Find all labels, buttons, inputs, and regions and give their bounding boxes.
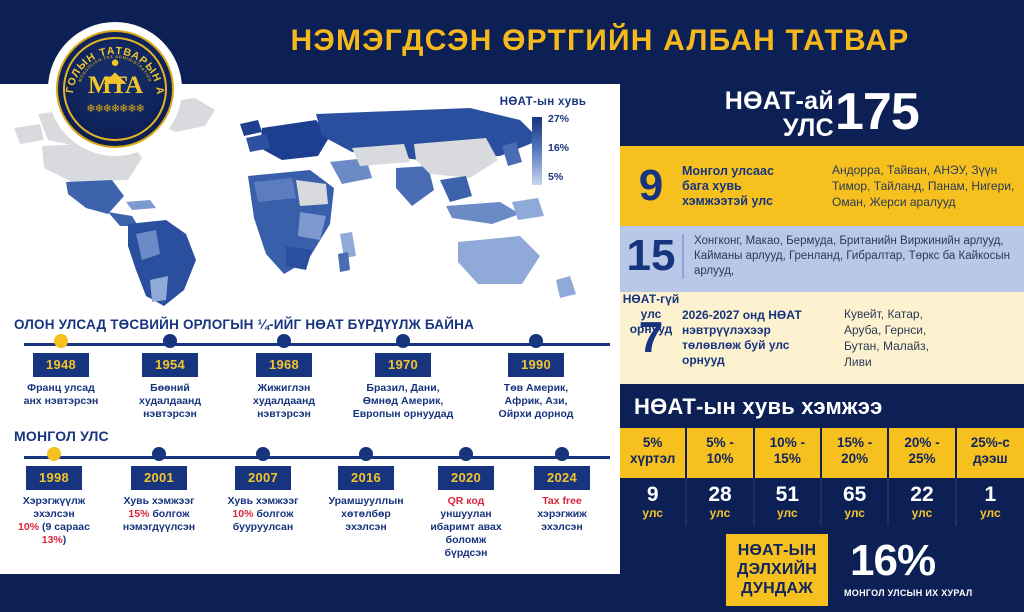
legend-scale: 27% 16% 5% [478, 113, 608, 187]
organization-logo: МОНГОЛЫН ТАТВАРЫН АЛБА MONGOLIAN TAX ADM… [48, 22, 182, 156]
timeline-item-2001[interactable]: 2001 Хувь хэмжээг15% болгожнэмэгдүүлсэн [104, 452, 214, 534]
rate-value: 9 [622, 484, 683, 506]
timeline-item-1998[interactable]: 1998 Хэрэгжүүлжэхэлсэн10% (9 сараас13%) [0, 452, 108, 547]
rate-table: 5%хүртэл 9 улс 5% -10% 28 улс 10% -15% 5… [620, 428, 1024, 526]
timeline-dot [152, 447, 166, 461]
rate-header: 25%-сдээш [957, 428, 1024, 478]
map-legend: НӨАТ-ын хувь 27% 16% 5% [478, 96, 608, 187]
timeline-year: 2016 [338, 466, 394, 490]
timeline-year: 1954 [142, 353, 198, 377]
timeline-item-1968[interactable]: 1968 Жижиглэнхудалдаанднэвтэрсэн [222, 339, 346, 421]
rate-header: 20% -25% [889, 428, 956, 478]
rate-value: 51 [757, 484, 818, 506]
rate-column-6[interactable]: 25%-сдээш 1 улс [957, 428, 1024, 526]
timeline-dot [54, 334, 68, 348]
timeline-dot [396, 334, 410, 348]
timeline-dot [256, 447, 270, 461]
page-title: НЭМЭГДСЭН ӨРТГИЙН АЛБАН ТАТВАР [230, 20, 970, 62]
timeline-dot [47, 447, 61, 461]
band-lower-list: Андорра, Тайван, АНЭУ, Зүүн Тимор, Тайла… [832, 162, 1024, 210]
timeline-item-1948[interactable]: 1948 Франц улсаданх нэвтэрсэн [0, 339, 122, 408]
timeline-desc: Хувь хэмжээг15% болгожнэмэгдүүлсэн [104, 495, 214, 534]
timeline-desc: Tax freeхэрэгжижэхэлсэн [512, 495, 612, 534]
rate-value: 1 [959, 484, 1022, 506]
timeline-mongolia-heading: МОНГОЛ УЛС [14, 428, 109, 444]
band-lower-rate: 9 Монгол улсаасбага хувьхэмжээтэй улс Ан… [620, 146, 1024, 226]
rate-header: 10% -15% [755, 428, 822, 478]
rate-cell: 65 улс [822, 478, 889, 526]
timeline-item-2016[interactable]: 2016 Урамшууллынхөтөлбөрэхэлсэн [312, 452, 420, 534]
rate-cell: 51 улс [755, 478, 822, 526]
rate-value: 22 [891, 484, 952, 506]
timeline-dot [163, 334, 177, 348]
timeline-desc: Хэрэгжүүлжэхэлсэн10% (9 сараас13%) [0, 495, 108, 547]
rate-column-1[interactable]: 5%хүртэл 9 улс [620, 428, 687, 526]
legend-title: НӨАТ-ын хувь [478, 96, 608, 108]
timeline-item-1954[interactable]: 1954 Бөөнийхудалдаанднэвтэрсэн [108, 339, 232, 421]
band-no-vat-list: Хонгконг, Макао, Бермуда, Британийн Вирж… [682, 234, 1024, 279]
rate-value: 28 [689, 484, 750, 506]
timeline-year: 2024 [534, 466, 590, 490]
timeline-year: 1968 [256, 353, 312, 377]
rate-cell: 1 улс [957, 478, 1024, 526]
rate-column-2[interactable]: 5% -10% 28 улс [687, 428, 754, 526]
timeline-year: 2007 [235, 466, 291, 490]
rate-column-4[interactable]: 15% -20% 65 улс [822, 428, 889, 526]
timeline-item-2024[interactable]: 2024 Tax freeхэрэгжижэхэлсэн [512, 452, 612, 534]
timeline-year: 1998 [26, 466, 82, 490]
world-average-label: НӨАТ-ЫНДЭЛХИЙНДУНДАЖ [726, 534, 828, 606]
band-planned-list: Кувейт, Катар,Аруба, Гернси,Бутан, Малай… [844, 306, 962, 370]
rate-unit: улс [959, 506, 1022, 520]
timeline-year: 2001 [131, 466, 187, 490]
band-no-vat: 15 Хонгконг, Макао, Бермуда, Британийн В… [620, 226, 1024, 292]
timeline-desc: QR кодуншууланибаримт авахболомжбүрдсэн [414, 495, 518, 560]
timeline-desc: Франц улсаданх нэвтэрсэн [0, 382, 122, 408]
rate-column-3[interactable]: 10% -15% 51 улс [755, 428, 822, 526]
timeline-desc: Хувь хэмжээг10% болгожбууруулсан [208, 495, 318, 534]
timeline-item-2020[interactable]: 2020 QR кодуншууланибаримт авахболомжбүр… [414, 452, 518, 560]
rate-unit: улс [824, 506, 885, 520]
world-average-row: НӨАТ-ЫНДЭЛХИЙНДУНДАЖ 16% МОНГОЛ УЛСЫН ИХ… [620, 526, 1024, 612]
band-no-vat-number: 15 [620, 234, 682, 278]
rate-header: 5%хүртэл [620, 428, 687, 478]
band-planned-label: 2026-2027 онд НӨАТнэвтрүүлэхээртөлөвлөж … [682, 308, 844, 368]
timeline-year: 1948 [33, 353, 89, 377]
source-credit: МОНГОЛ УЛСЫН ИХ ХУРАЛ [844, 588, 972, 598]
rate-unit: улс [689, 506, 750, 520]
rate-header: 15% -20% [822, 428, 889, 478]
vat-count-value: 175 [835, 82, 919, 142]
timeline-dot [459, 447, 473, 461]
timeline-desc: Урамшууллынхөтөлбөрэхэлсэн [312, 495, 420, 534]
band-no-vat-label: НӨАТ-гүйулсорнууд [620, 292, 682, 337]
timeline-mongolia: МОНГОЛ УЛС 1998 Хэрэгжүүлжэхэлсэн10% (9 … [0, 424, 620, 574]
timeline-dot [529, 334, 543, 348]
vat-country-count: НӨАТ-айУЛС 175 [620, 84, 1024, 146]
legend-tick-low: 5% [548, 171, 563, 183]
legend-gradient-bar [532, 117, 542, 185]
timeline-item-1990[interactable]: 1990 Төв Америк,Африк, Ази,Ойрхи дорнодн… [470, 339, 602, 434]
legend-tick-mid: 16% [548, 142, 569, 154]
rate-unit: улс [757, 506, 818, 520]
wreath-icon: ❄❄❄❄❄❄❄ [48, 102, 182, 115]
right-panel: НӨАТ-айУЛС 175 9 Монгол улсаасбага хувьх… [620, 84, 1024, 574]
timeline-world-heading: ОЛОН УЛСАД ТӨСВИЙН ОРЛОГЫН ¼-ИЙГ НӨАТ БҮ… [14, 317, 474, 332]
timeline-year: 1970 [375, 353, 431, 377]
timeline-dot [555, 447, 569, 461]
rate-column-5[interactable]: 20% -25% 22 улс [889, 428, 956, 526]
timeline-dot [277, 334, 291, 348]
world-average-value: 16% [850, 536, 935, 586]
logo-monogram: МТА [48, 72, 182, 100]
rate-cell: 28 улс [687, 478, 754, 526]
rate-cell: 22 улс [889, 478, 956, 526]
timeline-item-1970[interactable]: 1970 Бразил, Дани,Өмнөд Америк,Европын о… [334, 339, 472, 434]
legend-tick-high: 27% [548, 113, 569, 125]
timeline-year: 1990 [508, 353, 564, 377]
rate-value: 65 [824, 484, 885, 506]
rate-unit: улс [622, 506, 683, 520]
timeline-dot [359, 447, 373, 461]
band-lower-label: Монгол улсаасбага хувьхэмжээтэй улс [682, 164, 832, 209]
timeline-desc: Бөөнийхудалдаанднэвтэрсэн [108, 382, 232, 421]
timeline-year: 2020 [438, 466, 494, 490]
rate-unit: улс [891, 506, 952, 520]
timeline-desc: Жижиглэнхудалдаанднэвтэрсэн [222, 382, 346, 421]
timeline-item-2007[interactable]: 2007 Хувь хэмжээг10% болгожбууруулсан [208, 452, 318, 534]
band-lower-number: 9 [620, 161, 682, 211]
rate-table-title: НӨАТ-ын хувь хэмжээ [620, 384, 1024, 428]
rate-cell: 9 улс [620, 478, 687, 526]
vat-count-label: НӨАТ-айУЛС [644, 88, 834, 142]
infographic-root: НЭМЭГДСЭН ӨРТГИЙН АЛБАН ТАТВАР МОНГОЛЫН … [0, 0, 1024, 574]
rate-header: 5% -10% [687, 428, 754, 478]
